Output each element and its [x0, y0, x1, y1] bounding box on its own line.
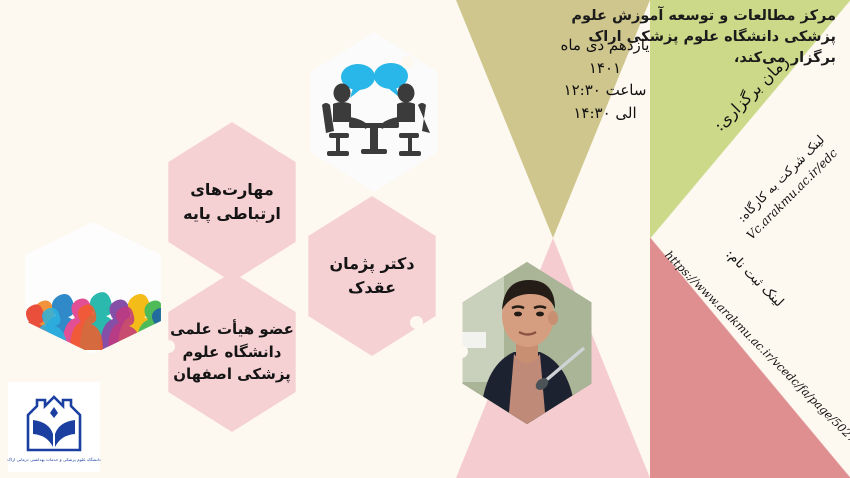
hex-topic-line-1: مهارت‌های: [183, 178, 281, 202]
hex-affiliation-line-2: دانشگاه علوم: [170, 341, 294, 364]
schedule-start: ساعت ۱۲:۳۰: [545, 79, 665, 102]
hex-topic-line-2: ارتباطی پایه: [183, 202, 281, 226]
hex-affiliation-text: عضو هیأت علمی دانشگاه علوم پزشکی اصفهان: [170, 318, 294, 386]
schedule-date: یازدهم دی ماه: [545, 34, 665, 57]
hex-speaker-line-1: دکتر پژمان: [329, 252, 414, 276]
hex-speaker-text: دکتر پژمان عقدک: [329, 252, 414, 300]
conversation-illustration-hex: [300, 32, 448, 192]
hex-topic-text: مهارت‌های ارتباطی پایه: [183, 178, 281, 226]
schedule-datetime: یازدهم دی ماه ۱۴۰۱ ساعت ۱۲:۳۰ الی ۱۴:۳۰: [545, 34, 665, 124]
schedule-end: الی ۱۴:۳۰: [545, 102, 665, 125]
poster-canvas: مرکز مطالعات و توسعه آموزش علوم پزشکی دا…: [0, 0, 850, 478]
hex-affiliation-line-3: پزشکی اصفهان: [170, 363, 294, 386]
university-logo-caption: دانشگاه علوم پزشکی و خدمات بهداشتی درمان…: [7, 457, 101, 462]
hex-speaker-line-2: عقدک: [329, 276, 414, 300]
header-line-1: مرکز مطالعات و توسعه آموزش علوم: [536, 6, 836, 27]
university-logo: دانشگاه علوم پزشکی و خدمات بهداشتی درمان…: [8, 382, 100, 472]
hex-affiliation-line-1: عضو هیأت علمی: [170, 318, 294, 341]
hex-speaker: دکتر پژمان عقدک: [298, 196, 446, 356]
hex-topic: مهارت‌های ارتباطی پایه: [158, 122, 306, 282]
crowd-silhouettes-icon: [18, 226, 168, 350]
university-logo-icon: [21, 393, 87, 455]
crowd-illustration-hex: [14, 222, 172, 354]
hex-affiliation: عضو هیأت علمی دانشگاه علوم پزشکی اصفهان: [158, 272, 306, 432]
schedule-year: ۱۴۰۱: [545, 57, 665, 80]
two-people-conversation-icon: [309, 47, 439, 177]
